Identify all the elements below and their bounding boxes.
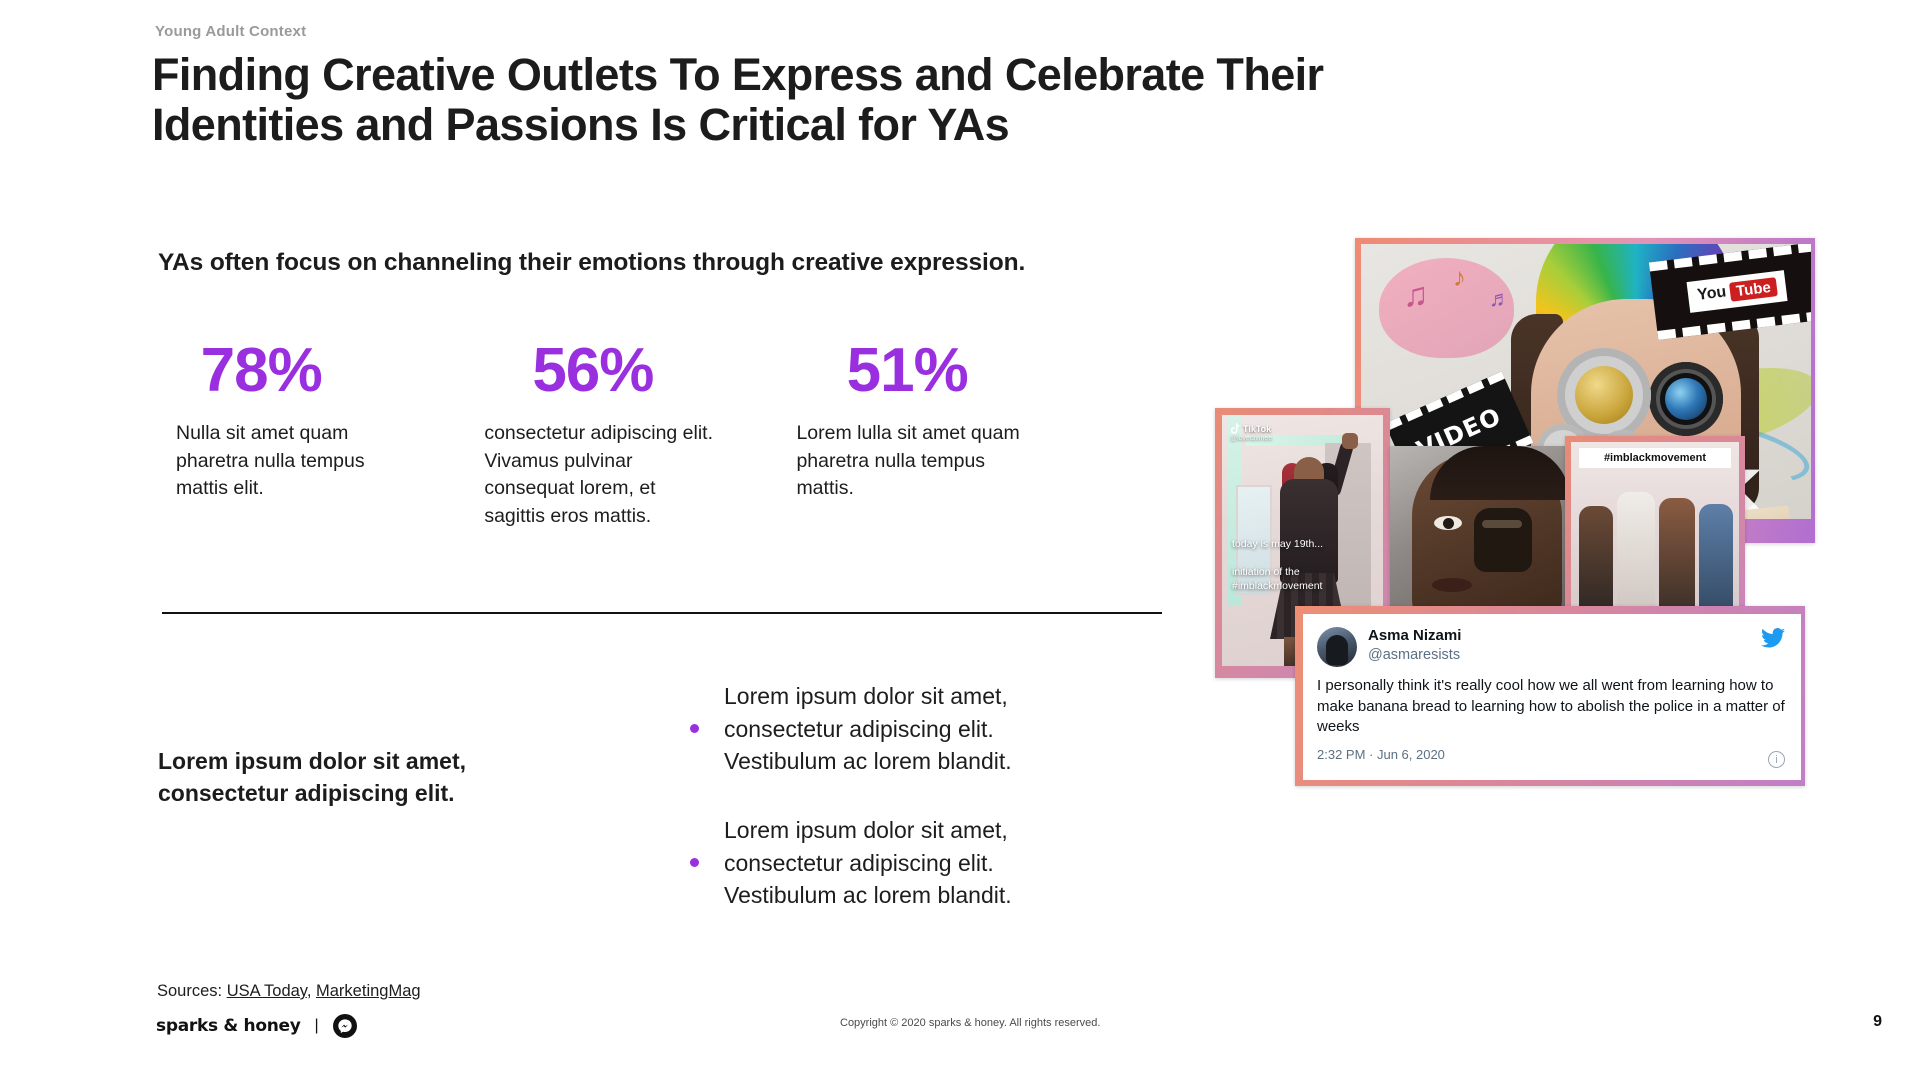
person <box>1617 492 1655 614</box>
sparks-and-honey-logo: sparks & honey <box>156 1016 301 1036</box>
music-note-icon: ♪ <box>1453 262 1466 293</box>
eye <box>1434 516 1462 530</box>
lower-left-text: Lorem ipsum dolor sit amet, consectetur … <box>158 746 588 809</box>
bullet-text: Lorem ipsum dolor sit amet, consectetur … <box>724 814 1094 912</box>
person <box>1699 504 1733 614</box>
tweet-handle: @asmaresists <box>1368 646 1461 665</box>
tiktok-caption-line-1: today is may 19th... <box>1232 537 1375 551</box>
raised-fist <box>1342 433 1358 449</box>
stat-description: Lorem lulla sit amet quam pharetra nulla… <box>796 420 1028 503</box>
raised-fist-face-paint <box>1474 508 1532 572</box>
coin-icon <box>1575 366 1633 424</box>
music-note-icon: ♫ <box>1403 276 1429 315</box>
bullet-list: Lorem ipsum dolor sit amet, consectetur … <box>690 680 1120 948</box>
tweet-timestamp: 2:32 PM · Jun 6, 2020 <box>1317 747 1785 762</box>
stats-row: 78% Nulla sit amet quam pharetra nulla t… <box>158 340 1118 531</box>
tweet-inner: Asma Nizami @asmaresists I personally th… <box>1303 614 1801 780</box>
youtube-logo: You Tube <box>1687 270 1788 313</box>
person <box>1579 506 1613 614</box>
bullet-text: Lorem ipsum dolor sit amet, consectetur … <box>724 680 1094 778</box>
person <box>1659 498 1695 614</box>
avatar <box>1317 627 1357 667</box>
youtube-tube-text: Tube <box>1729 277 1778 302</box>
group-photo-inner: #imblackmovement <box>1571 442 1739 620</box>
sources-label: Sources: <box>157 982 222 1000</box>
stat-item: 51% Lorem lulla sit amet quam pharetra n… <box>796 340 1118 531</box>
bullet-dot-icon <box>690 858 699 867</box>
source-link-usa-today[interactable]: USA Today <box>227 982 307 1000</box>
page-title: Finding Creative Outlets To Express and … <box>152 50 1332 151</box>
stat-value: 78% <box>158 340 484 402</box>
source-link-marketingmag[interactable]: MarketingMag <box>316 982 421 1000</box>
slide: Young Adult Context Finding Creative Out… <box>0 0 1920 1080</box>
tweet-card: Asma Nizami @asmaresists I personally th… <box>1295 606 1805 786</box>
youtube-you-text: You <box>1696 283 1727 304</box>
bullet-dot-icon <box>690 724 699 733</box>
tweet-display-name: Asma Nizami <box>1368 627 1461 646</box>
subheading: YAs often focus on channeling their emot… <box>158 249 1218 277</box>
section-divider <box>162 612 1162 614</box>
tiktok-logo: TikTok <box>1230 423 1271 434</box>
stat-value: 56% <box>484 340 796 402</box>
music-note-icon: ♬ <box>1489 286 1511 312</box>
messenger-icon <box>333 1014 357 1038</box>
image-collage: ♫ ♪ ♬ facebook VIDEO <box>1215 238 1915 948</box>
mouth <box>1432 578 1472 592</box>
camera-lens-icon <box>1649 362 1723 436</box>
list-item: Lorem ipsum dolor sit amet, consectetur … <box>690 680 1120 778</box>
hashtag-overlay: #imblackmovement <box>1579 448 1731 468</box>
info-icon[interactable]: i <box>1768 751 1785 768</box>
stat-item: 56% consectetur adipiscing elit. Vivamus… <box>484 340 796 531</box>
tweet-author: Asma Nizami @asmaresists <box>1368 627 1461 665</box>
copyright-text: Copyright © 2020 sparks & honey. All rig… <box>840 1017 1100 1029</box>
twitter-bird-icon <box>1761 628 1785 653</box>
brand-row: sparks & honey | <box>156 1014 357 1038</box>
eyebrow-label: Young Adult Context <box>155 23 306 40</box>
brand-separator: | <box>315 1017 319 1035</box>
tweet-body-text: I personally think it's really cool how … <box>1317 676 1785 738</box>
tiktok-logo-label: TikTok <box>1243 424 1271 434</box>
list-item: Lorem ipsum dolor sit amet, consectetur … <box>690 814 1120 912</box>
hair <box>1430 446 1570 500</box>
stat-description: consectetur adipiscing elit. Vivamus pul… <box>484 420 716 531</box>
sources-comma: , <box>307 982 312 1000</box>
stat-description: Nulla sit amet quam pharetra nulla tempu… <box>176 420 408 503</box>
tweet-content: Asma Nizami @asmaresists I personally th… <box>1303 614 1801 780</box>
tiktok-handle: @lovedivinee <box>1230 435 1272 442</box>
page-number: 9 <box>1873 1013 1882 1031</box>
stat-value: 51% <box>796 340 1118 402</box>
sources-line: Sources: USA Today, MarketingMag <box>157 982 421 1001</box>
tiktok-caption-line-2: initiation of the #imblackmovement <box>1232 565 1375 593</box>
group-photo-image: #imblackmovement <box>1565 436 1745 626</box>
tweet-header: Asma Nizami @asmaresists <box>1317 627 1785 667</box>
stat-item: 78% Nulla sit amet quam pharetra nulla t… <box>158 340 484 531</box>
